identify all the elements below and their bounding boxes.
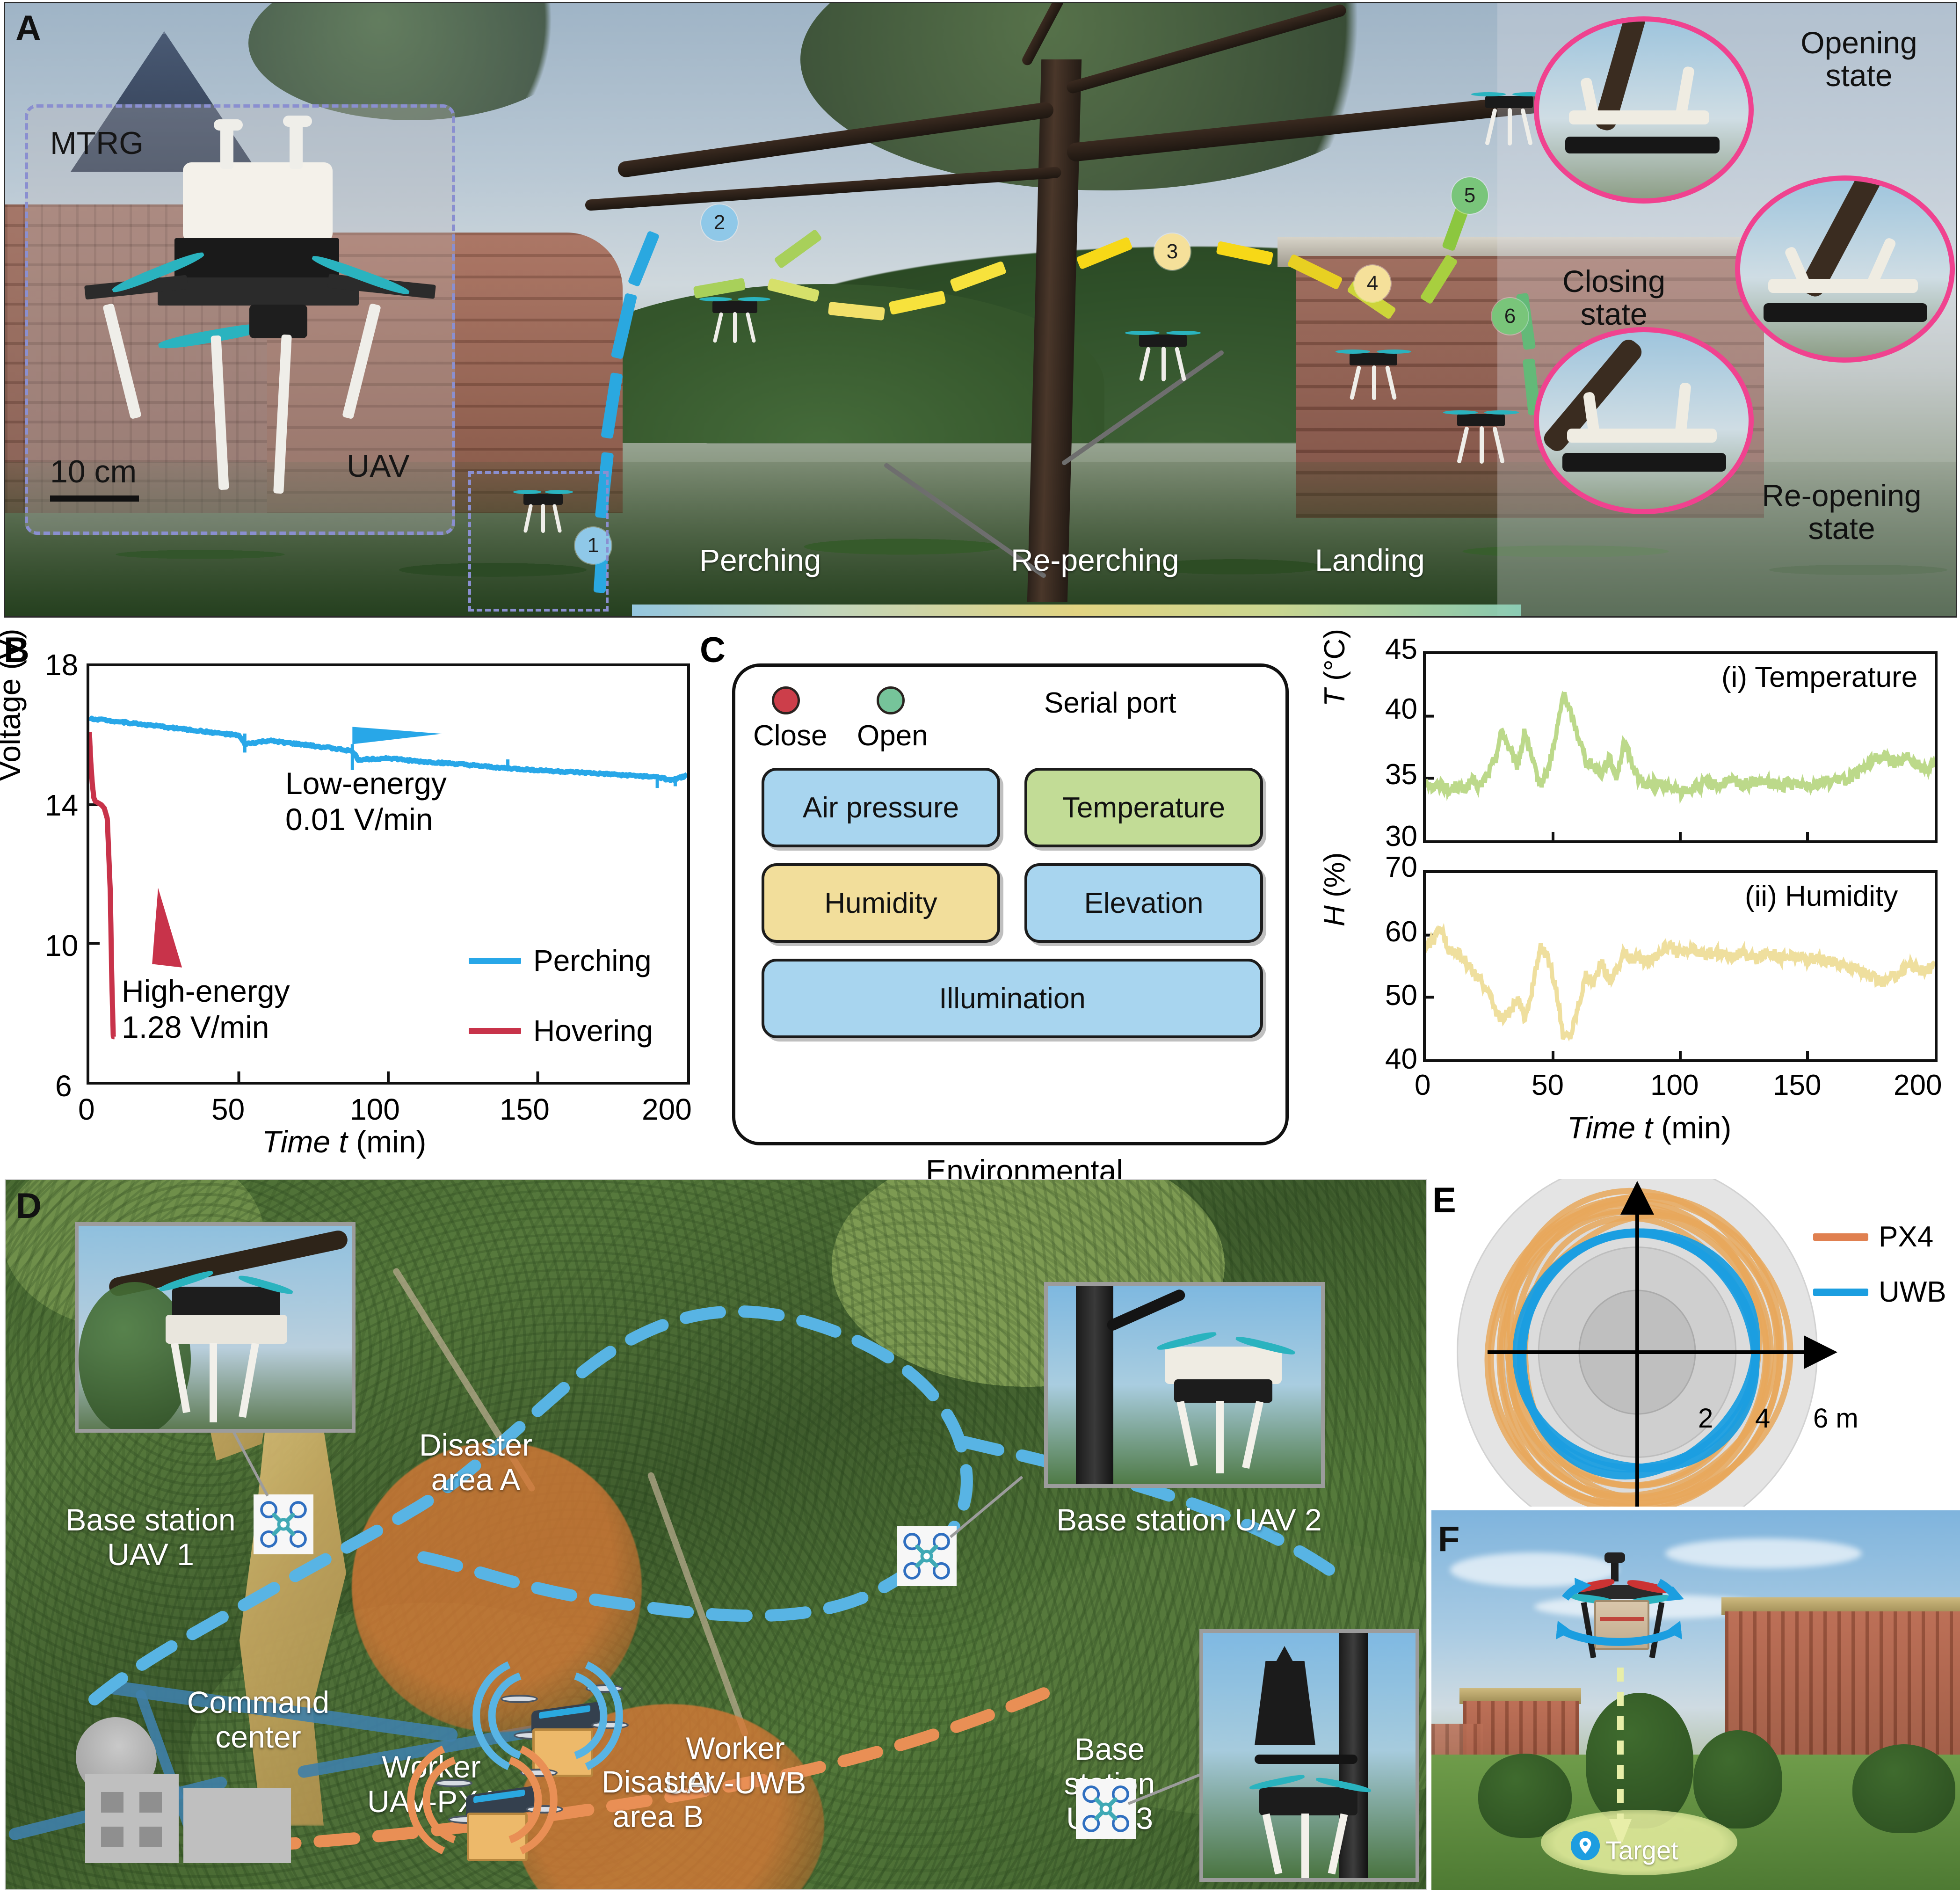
quadcopter-icon	[900, 1530, 953, 1582]
d-label-cc-line2: center	[160, 1720, 356, 1755]
th-temp-axis-title: T (°C)	[1318, 629, 1351, 707]
panel-a-field-experiment: 1 2 3 4 5 6 Perching Re-perching Landing…	[4, 2, 1957, 618]
inset-opening-state	[1534, 16, 1754, 204]
b-note-high-line1: High-energy	[122, 973, 290, 1009]
d-label-bs1-line2: UAV 1	[29, 1537, 272, 1572]
th-xtick-0: 0	[1415, 1069, 1430, 1102]
quadcopter-icon	[1080, 1783, 1132, 1835]
panel-letter-c: C	[700, 633, 726, 668]
panel-letter-d: D	[16, 1188, 42, 1224]
e-legend-label-uwb: UWB	[1879, 1275, 1946, 1309]
button-humidity-label: Humidity	[824, 887, 937, 920]
b-xtick-150: 150	[500, 1092, 550, 1127]
led-close	[772, 686, 800, 714]
panel-letter-b: B	[4, 633, 29, 668]
button-elevation[interactable]: Elevation	[1024, 863, 1263, 943]
b-marker-high-energy	[152, 888, 182, 968]
waypoint-badge-2: 2	[701, 204, 738, 241]
b-legend-label-hovering: Hovering	[533, 1013, 653, 1048]
th-temp-title: (i) Temperature	[1721, 661, 1917, 694]
b-legend-swatch-perching	[469, 958, 521, 964]
e-legend-uwb: UWB	[1813, 1275, 1946, 1309]
waypoint-badge-4: 4	[1354, 265, 1391, 302]
button-temperature[interactable]: Temperature	[1024, 768, 1263, 847]
phase-label-perching: Perching	[699, 542, 821, 578]
uav-waypoint-4	[1334, 345, 1413, 406]
mtrg-uav-photo	[66, 116, 440, 518]
b-ytick-10: 10	[45, 928, 78, 963]
b-xtick-0: 0	[78, 1092, 95, 1127]
panel-letter-f: F	[1438, 1522, 1459, 1557]
uav-waypoint-3	[1123, 326, 1203, 387]
th-hum-axis-title: H (%)	[1318, 852, 1351, 926]
b-axis-title-x: Time t (min)	[262, 1124, 426, 1159]
uav-landing	[1441, 406, 1521, 471]
quadcopter-icon	[257, 1498, 310, 1551]
th-temp-ytick-45: 45	[1343, 633, 1417, 666]
button-air-pressure-label: Air pressure	[803, 791, 959, 824]
th-hum-ytick-50: 50	[1343, 979, 1417, 1012]
d-label-command-center: Command center	[160, 1685, 356, 1755]
waypoint-badge-5: 5	[1452, 177, 1488, 214]
state-label-closing: Closing state	[1537, 265, 1691, 331]
e-radial-axis-end-label: 6 m	[1813, 1403, 1858, 1434]
led-open	[877, 686, 905, 714]
px4-signal-arcs	[385, 1741, 581, 1863]
b-legend-swatch-hovering	[469, 1028, 521, 1034]
b-xtick-200: 200	[642, 1092, 692, 1127]
b-ytick-14: 14	[45, 788, 78, 823]
building-window	[139, 1792, 162, 1813]
b-marker-low-energy	[352, 727, 442, 744]
d-label-uwb-line1: Worker	[628, 1731, 843, 1766]
panel-letter-e: E	[1432, 1183, 1456, 1218]
command-center-building-1	[85, 1774, 179, 1863]
panel-e-trajectory-polar: E 2 4 6 m PX4 UWB	[1431, 1179, 1960, 1507]
th-series	[1426, 692, 1935, 797]
state-label-closing-text: Closing state	[1562, 264, 1665, 331]
drone-marker-icon-uav1[interactable]	[254, 1494, 313, 1554]
th-hum-ytick-60: 60	[1343, 915, 1417, 948]
b-note-low-line2: 0.01 V/min	[285, 801, 447, 838]
b-xtick-100: 100	[350, 1092, 400, 1127]
th-temp-ytick-30: 30	[1343, 820, 1417, 853]
e-legend-swatch-uwb	[1813, 1289, 1868, 1296]
b-ytick-6: 6	[55, 1069, 72, 1103]
serial-port-label: Serial port	[1044, 686, 1176, 720]
panel-letter-a: A	[15, 11, 41, 46]
e-legend-label-px4: PX4	[1879, 1220, 1933, 1253]
command-center-building-2	[183, 1788, 291, 1863]
waypoint-label: 4	[1367, 272, 1378, 295]
e-legend-swatch-px4	[1813, 1233, 1868, 1241]
th-axis-title-x: Time t (min)	[1567, 1110, 1731, 1145]
th-temp-ytick-40: 40	[1343, 692, 1417, 726]
panel-c-monitoring-ui: C Close Open Serial port Air pressure Te…	[697, 627, 1352, 1160]
led-label-open: Open	[857, 719, 928, 752]
led-label-close: Close	[753, 719, 828, 752]
panel-th-environment-charts: 45 40 35 30 T (°C) (i) Temperature 70 60…	[1352, 627, 1960, 1160]
d-label-db-line2: area B	[558, 1799, 759, 1834]
th-series	[1426, 928, 1935, 1040]
inset-photo-uav3	[1199, 1629, 1419, 1882]
b-legend-perching: Perching	[469, 943, 652, 978]
e-legend-px4: PX4	[1813, 1220, 1933, 1253]
d-label-cc-line1: Command	[160, 1685, 356, 1720]
drone-marker-icon-uav3[interactable]	[1076, 1779, 1136, 1839]
panel-b-voltage-chart: B 18 14 10 6 Voltage (V) 0 50 100 150 20…	[0, 627, 692, 1160]
phase-label-reperching: Re-perching	[1011, 542, 1179, 578]
waypoint-label: 3	[1167, 240, 1178, 263]
b-legend-hovering: Hovering	[469, 1013, 653, 1048]
th-xtick-150: 150	[1773, 1069, 1821, 1102]
button-temperature-label: Temperature	[1062, 791, 1225, 824]
button-illumination[interactable]: Illumination	[762, 959, 1263, 1038]
b-note-high-energy: High-energy 1.28 V/min	[122, 973, 290, 1045]
state-label-reopening: Re-opening state	[1739, 480, 1945, 545]
th-temp-ytick-35: 35	[1343, 758, 1417, 791]
uav-perched-left	[510, 485, 576, 537]
inset-closing-state	[1735, 175, 1955, 363]
b-xtick-50: 50	[211, 1092, 245, 1127]
c-device-panel: Close Open Serial port Air pressure Temp…	[732, 663, 1289, 1145]
waypoint-badge-6: 6	[1492, 298, 1528, 335]
waypoint-label: 6	[1504, 305, 1516, 328]
panel-d-disaster-scenario: Base station UAV 1 Command center Disast…	[5, 1179, 1427, 1890]
waypoint-badge-3: 3	[1154, 233, 1191, 270]
state-label-opening-text: Opening state	[1800, 25, 1917, 93]
inset-photo-uav1	[75, 1222, 356, 1433]
drone-marker-icon-uav2[interactable]	[897, 1526, 957, 1586]
d-label-bs3-line1: Base	[1030, 1732, 1189, 1767]
f-rotation-arrows	[1431, 1510, 1960, 1890]
waypoint-label: 5	[1464, 184, 1475, 207]
d-label-base-station-uav1: Base station UAV 1	[29, 1503, 272, 1572]
state-label-reopening-text: Re-opening state	[1762, 478, 1921, 546]
b-note-low-energy: Low-energy 0.01 V/min	[285, 765, 447, 837]
b-note-high-line2: 1.28 V/min	[122, 1009, 290, 1045]
inset-photo-uav2	[1044, 1282, 1325, 1488]
th-xtick-100: 100	[1650, 1069, 1699, 1102]
phase-label-landing: Landing	[1315, 542, 1425, 578]
th-xtick-200: 200	[1894, 1069, 1942, 1102]
panel-f-precision-delivery: Target F	[1431, 1510, 1960, 1890]
d-label-bs1-line1: Base station	[29, 1503, 272, 1537]
b-note-low-line1: Low-energy	[285, 765, 447, 801]
b-series-hovering	[89, 732, 115, 1037]
uav-waypoint-2	[697, 293, 772, 350]
building-window	[101, 1792, 123, 1813]
button-humidity[interactable]: Humidity	[762, 863, 1000, 943]
button-illumination-label: Illumination	[939, 982, 1086, 1015]
state-label-opening: Opening state	[1768, 27, 1950, 92]
th-xtick-50: 50	[1532, 1069, 1564, 1102]
building-window	[139, 1827, 162, 1847]
th-hum-ytick-40: 40	[1343, 1042, 1417, 1076]
e-radial-tick-4: 4	[1755, 1403, 1770, 1434]
b-ytick-18: 18	[45, 648, 78, 682]
building-window	[101, 1827, 123, 1847]
d-label-base-station-uav2: Base station UAV 2	[1025, 1503, 1353, 1537]
b-legend-label-perching: Perching	[533, 943, 652, 978]
th-hum-ytick-70: 70	[1343, 851, 1417, 884]
phase-gradient-bar	[632, 605, 1521, 617]
th-hum-title: (ii) Humidity	[1745, 880, 1898, 913]
inset-reopening-state	[1534, 327, 1754, 514]
d-label-da-line1: Disaster	[375, 1428, 576, 1463]
button-air-pressure[interactable]: Air pressure	[762, 768, 1000, 847]
d-label-disaster-area-a: Disaster area A	[375, 1428, 576, 1497]
button-elevation-label: Elevation	[1084, 887, 1203, 920]
waypoint-label: 2	[714, 211, 725, 234]
d-label-da-line2: area A	[375, 1463, 576, 1497]
e-radial-tick-2: 2	[1698, 1403, 1713, 1434]
